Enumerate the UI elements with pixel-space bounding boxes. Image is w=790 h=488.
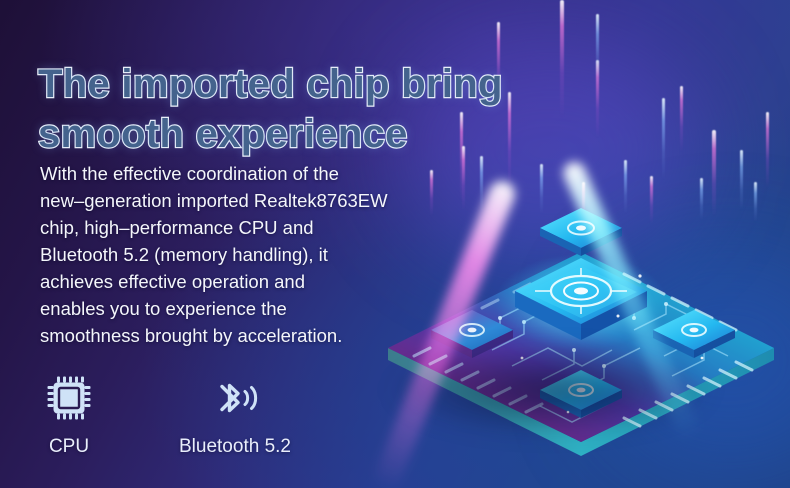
description-line: smoothness brought by acceleration. [40, 322, 430, 349]
feature-bluetooth: Bluetooth 5.2 [160, 372, 310, 458]
description-line: achieves effective operation and [40, 268, 430, 295]
page-title: The imported chip bring smooth experienc… [38, 59, 558, 159]
streak [766, 112, 769, 188]
product-feature-banner: The imported chip bring smooth experienc… [0, 0, 790, 488]
description-line: With the effective coordination of the [40, 160, 430, 187]
streak [596, 14, 599, 86]
streak [662, 98, 665, 180]
feature-icon-list: CPU Bluetooth 5.2 [40, 372, 310, 458]
feature-label: Bluetooth 5.2 [179, 436, 291, 458]
streak [560, 0, 564, 118]
chip-shadow [380, 330, 760, 450]
description-line: enables you to experience the [40, 295, 430, 322]
streak [680, 86, 683, 152]
description-paragraph: With the effective coordination of the n… [40, 160, 430, 349]
streak [596, 60, 599, 138]
chip-pad [540, 208, 622, 256]
description-line: new–generation imported Realtek8763EW [40, 187, 430, 214]
cpu-chip-icon [46, 372, 92, 424]
description-line: chip, high–performance CPU and [40, 214, 430, 241]
description-line: Bluetooth 5.2 (memory handling), it [40, 241, 430, 268]
feature-cpu: CPU [40, 372, 98, 458]
page-title-line: The imported chip bring [38, 59, 558, 109]
isometric-chip-illustration [372, 180, 790, 470]
feature-label: CPU [49, 436, 89, 458]
page-title-line: smooth experience [38, 109, 558, 159]
bluetooth-icon [208, 372, 262, 424]
